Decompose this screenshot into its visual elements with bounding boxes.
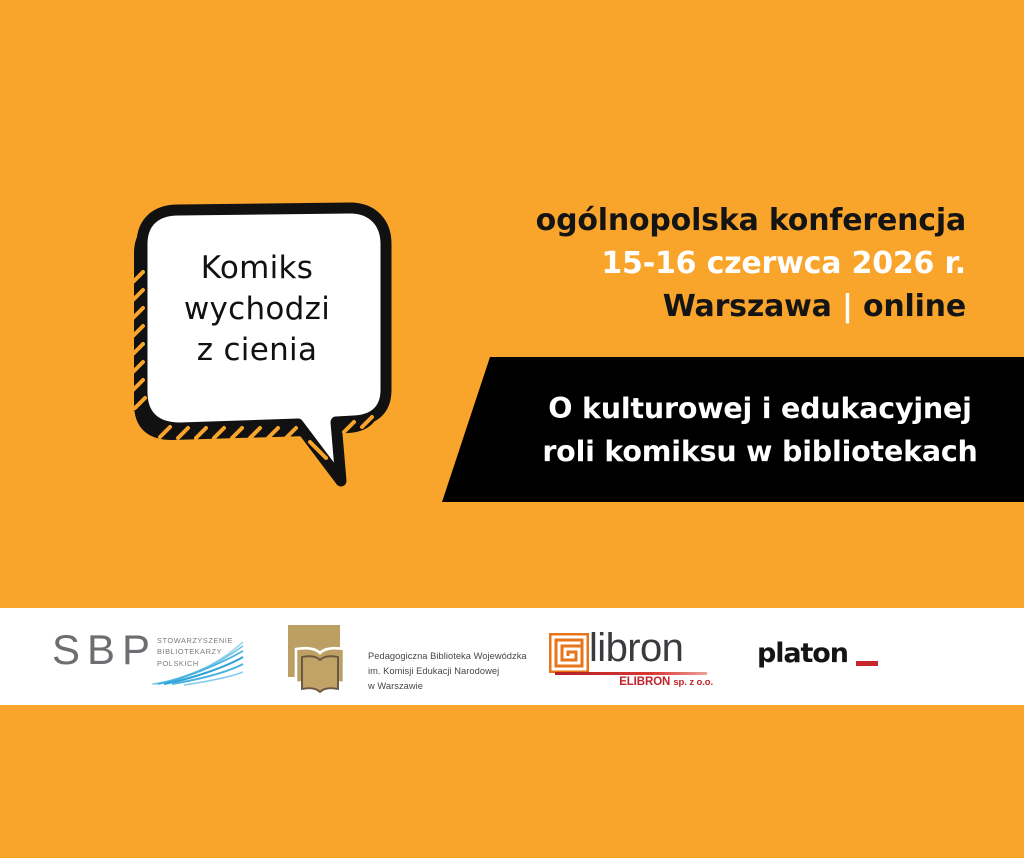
open-book-icon	[286, 623, 364, 695]
sbp-name-line-1: STOWARZYSZENIE	[157, 635, 233, 646]
logo-pedagogiczna-biblioteka[interactable]: Pedagogiczna Biblioteka Wojewódzka im. K…	[286, 623, 521, 695]
logo-platon[interactable]: platon	[757, 640, 887, 676]
pbw-name-line-1: Pedagogiczna Biblioteka Wojewódzka	[368, 649, 527, 664]
event-headline: ogólnopolska konferencja 15-16 czerwca 2…	[406, 200, 966, 329]
bubble-slogan-line-3: z cienia	[146, 330, 368, 371]
pbw-name-line-3: w Warszawie	[368, 679, 527, 694]
subtitle-band: O kulturowej i edukacyjnej roli komiksu …	[430, 350, 1024, 510]
spiral-square-icon	[549, 633, 589, 673]
headline-event-location: Warszawa | online	[406, 286, 966, 329]
sponsor-logo-band: SBP STOWARZYSZENIE BIBLIOTEKARZY POLSKIC…	[0, 608, 1024, 705]
pbw-name-line-2: im. Komisji Edukacji Narodowej	[368, 664, 527, 679]
headline-separator: |	[842, 289, 853, 324]
subtitle-band-text: O kulturowej i edukacyjnej roli komiksu …	[430, 350, 1024, 510]
conference-poster: Komiks wychodzi z cienia ogólnopolska ko…	[0, 0, 1024, 858]
logo-libron[interactable]: libron ELIBRON sp. z o.o.	[549, 622, 714, 694]
logo-sbp[interactable]: SBP STOWARZYSZENIE BIBLIOTEKARZY POLSKIC…	[52, 626, 252, 688]
bubble-slogan-line-1: Komiks	[146, 248, 368, 289]
libron-legal-suffix: sp. z o.o.	[673, 677, 713, 688]
libron-wordmark: libron	[589, 625, 683, 672]
headline-city: Warszawa	[663, 289, 832, 324]
platon-accent-dash	[856, 661, 878, 666]
bubble-slogan-line-2: wychodzi	[146, 289, 368, 330]
sbp-full-name: STOWARZYSZENIE BIBLIOTEKARZY POLSKICH	[157, 635, 233, 669]
headline-mode: online	[863, 289, 966, 324]
headline-event-type: ogólnopolska konferencja	[406, 200, 966, 243]
sbp-name-line-2: BIBLIOTEKARZY	[157, 646, 233, 657]
bubble-slogan: Komiks wychodzi z cienia	[146, 248, 368, 371]
libron-legal-main: ELIBRON	[619, 676, 670, 688]
sbp-acronym: SBP	[52, 629, 157, 671]
libron-legal-name: ELIBRON sp. z o.o.	[619, 676, 713, 688]
speech-bubble: Komiks wychodzi z cienia	[112, 196, 402, 506]
headline-event-date: 15-16 czerwca 2026 r.	[406, 243, 966, 286]
libron-underline	[555, 672, 707, 675]
sbp-name-line-3: POLSKICH	[157, 658, 233, 669]
subtitle-line-1: O kulturowej i edukacyjnej	[548, 387, 971, 430]
pbw-name: Pedagogiczna Biblioteka Wojewódzka im. K…	[368, 649, 527, 694]
subtitle-line-2: roli komiksu w bibliotekach	[542, 430, 977, 473]
